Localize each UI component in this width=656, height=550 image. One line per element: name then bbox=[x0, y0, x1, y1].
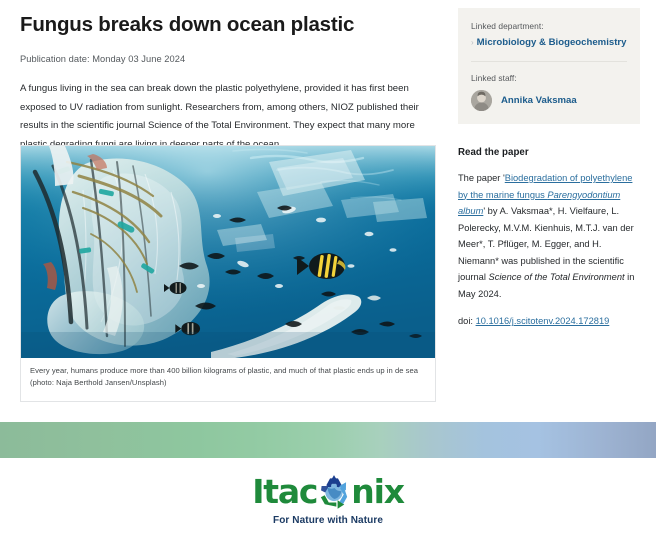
linked-department-label: Linked department: bbox=[471, 21, 627, 31]
logo-mark: Itac bbox=[252, 472, 404, 510]
article-sidebar: Linked department: › Microbiology & Biog… bbox=[458, 0, 640, 336]
article-header: Fungus breaks down ocean plastic Publica… bbox=[20, 10, 436, 164]
ocean-plastic-photo bbox=[21, 146, 435, 358]
citation-authors: ' by A. Vaksmaa*, H. Vielfaure, L. Poler… bbox=[458, 206, 634, 282]
linked-staff-label: Linked staff: bbox=[471, 73, 627, 83]
doi-line: doi: 10.1016/j.scitotenv.2024.172819 bbox=[458, 316, 640, 326]
linked-staff-link[interactable]: Annika Vaksmaa bbox=[501, 95, 577, 106]
page-footer: Itac bbox=[0, 458, 656, 550]
logo-text-after: nix bbox=[351, 475, 404, 508]
article-figure: Every year, humans produce more than 400… bbox=[20, 145, 436, 402]
linked-department-row[interactable]: › Microbiology & Biogeochemistry bbox=[471, 37, 627, 49]
article-page: Fungus breaks down ocean plastic Publica… bbox=[0, 0, 656, 550]
doi-label: doi: bbox=[458, 316, 476, 326]
avatar bbox=[471, 90, 492, 111]
content-area: Fungus breaks down ocean plastic Publica… bbox=[0, 0, 656, 422]
linked-info-panel: Linked department: › Microbiology & Biog… bbox=[458, 8, 640, 124]
publication-date: Publication date: Monday 03 June 2024 bbox=[20, 54, 436, 64]
recycle-globe-icon bbox=[316, 474, 352, 510]
chevron-right-icon: › bbox=[471, 37, 474, 49]
doi-link[interactable]: 10.1016/j.scitotenv.2024.172819 bbox=[476, 316, 610, 326]
figure-caption: Every year, humans produce more than 400… bbox=[21, 358, 435, 401]
logo-text-before: Itac bbox=[252, 475, 317, 508]
page-title: Fungus breaks down ocean plastic bbox=[20, 10, 436, 37]
logo-tagline: For Nature with Nature bbox=[273, 515, 383, 526]
panel-divider bbox=[471, 61, 627, 62]
itaconix-logo[interactable]: Itac bbox=[0, 472, 656, 526]
brand-gradient-band bbox=[0, 422, 656, 458]
citation-intro: The paper ' bbox=[458, 173, 505, 183]
journal-name: Science of the Total Environment bbox=[489, 272, 625, 282]
article-lede: A fungus living in the sea can break dow… bbox=[20, 80, 432, 155]
linked-department-link[interactable]: Microbiology & Biogeochemistry bbox=[477, 37, 627, 49]
paper-citation: The paper 'Biodegradation of polyethylen… bbox=[458, 170, 636, 302]
read-the-paper-heading: Read the paper bbox=[458, 147, 640, 158]
linked-staff-row[interactable]: Annika Vaksmaa bbox=[471, 90, 627, 111]
